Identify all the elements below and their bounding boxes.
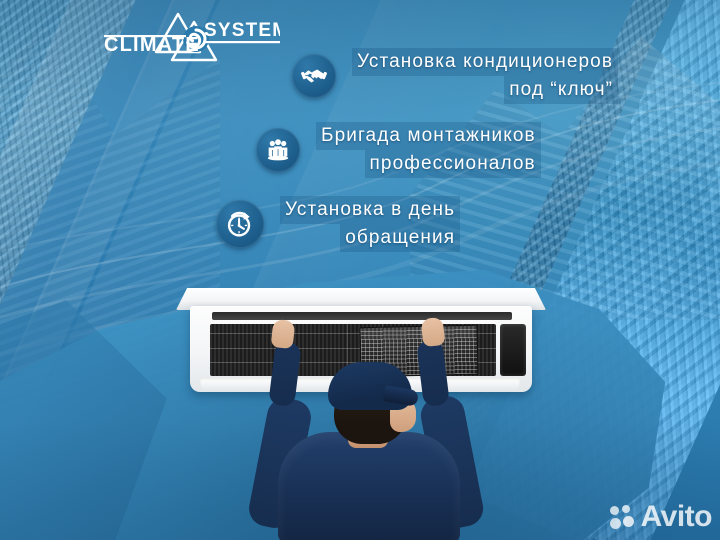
handshake-icon: [292, 54, 336, 98]
brand-logo-right-rule: [204, 41, 280, 43]
feature-line-1: Установка в день: [280, 196, 460, 224]
feature-line-1: Установка кондиционеров: [352, 48, 618, 76]
feature-item-same-day-installation[interactable]: Установка в день обращения: [0, 196, 720, 252]
avito-watermark: Avito: [610, 502, 712, 532]
promo-banner: CLIMATE SYSTEMS Установка кондиционеров: [0, 0, 720, 540]
ac-fan-housing: [500, 324, 526, 376]
ac-top-intake-slot: [212, 312, 512, 320]
feature-line-2: под “ключ”: [504, 76, 618, 104]
avito-dots-icon: [610, 505, 634, 529]
technician-torso-uniform: [278, 432, 460, 540]
group-of-people-icon: [256, 128, 300, 172]
brand-logo-right-text: SYSTEMS: [204, 20, 280, 41]
avito-wordmark: Avito: [641, 502, 712, 532]
feature-text: Бригада монтажников профессионалов: [316, 122, 541, 178]
technician-figure: [244, 360, 494, 540]
feature-text: Установка кондиционеров под “ключ”: [352, 48, 618, 104]
feature-line-1: Бригада монтажников: [316, 122, 541, 150]
technician-right-hand: [421, 317, 446, 347]
feature-list: Установка кондиционеров под “ключ”: [0, 48, 720, 270]
feature-line-2: обращения: [340, 224, 460, 252]
brand-logo-left-rule: [104, 35, 186, 37]
feature-line-2: профессионалов: [365, 150, 541, 178]
feature-text: Установка в день обращения: [280, 196, 460, 252]
feature-item-turnkey-installation[interactable]: Установка кондиционеров под “ключ”: [0, 48, 720, 104]
technician-left-hand: [271, 319, 296, 349]
fast-clock-icon: [216, 200, 264, 248]
feature-item-professional-team[interactable]: Бригада монтажников профессионалов: [0, 122, 720, 178]
